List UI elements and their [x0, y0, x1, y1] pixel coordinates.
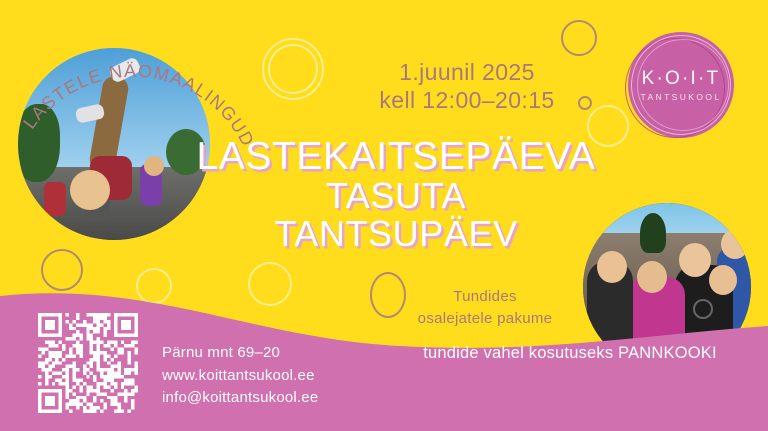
- contact-email[interactable]: info@koittantsukool.ee: [162, 387, 382, 410]
- headline-line-1: LASTEKAITSEPÄEVA: [186, 136, 606, 177]
- event-date: 1.juunil 2025: [332, 58, 602, 86]
- logo-subtitle: TANTSUKOOL: [628, 92, 734, 102]
- qr-code-canvas[interactable]: [38, 313, 138, 413]
- koit-logo: K·O·I·T TANTSUKOOL: [628, 32, 734, 138]
- event-time: kell 12:00–20:15: [332, 86, 602, 114]
- page-title: LASTEKAITSEPÄEVA TASUTA TANTSUPÄEV: [186, 136, 606, 254]
- photo-child-head: [721, 229, 749, 259]
- offer-line-1: Tundides: [380, 286, 590, 308]
- contact-address: Pärnu mnt 69–20: [162, 342, 382, 365]
- headline-line-2: TASUTA: [186, 177, 606, 215]
- qr-code[interactable]: [38, 313, 138, 413]
- decorative-ring-icon: [561, 20, 597, 56]
- pannkooki-note: tundide vahel kosutuseks PANNKOOKI: [384, 344, 756, 363]
- offer-note: Tundides osalejatele pakume: [380, 286, 590, 330]
- photo-tree: [640, 213, 666, 253]
- headline-line-3: TANTSUPÄEV: [186, 215, 606, 253]
- poster: LASTELE NÄOMAALINGUD K·O·I·T TANTSUKOOL …: [0, 0, 768, 431]
- contact-website[interactable]: www.koittantsukool.ee: [162, 365, 382, 388]
- contact-info: Pärnu mnt 69–20 www.koittantsukool.ee in…: [162, 342, 382, 410]
- offer-line-2: osalejatele pakume: [380, 308, 590, 330]
- logo-name: K·O·I·T: [628, 68, 734, 90]
- event-datetime: 1.juunil 2025 kell 12:00–20:15: [332, 58, 602, 114]
